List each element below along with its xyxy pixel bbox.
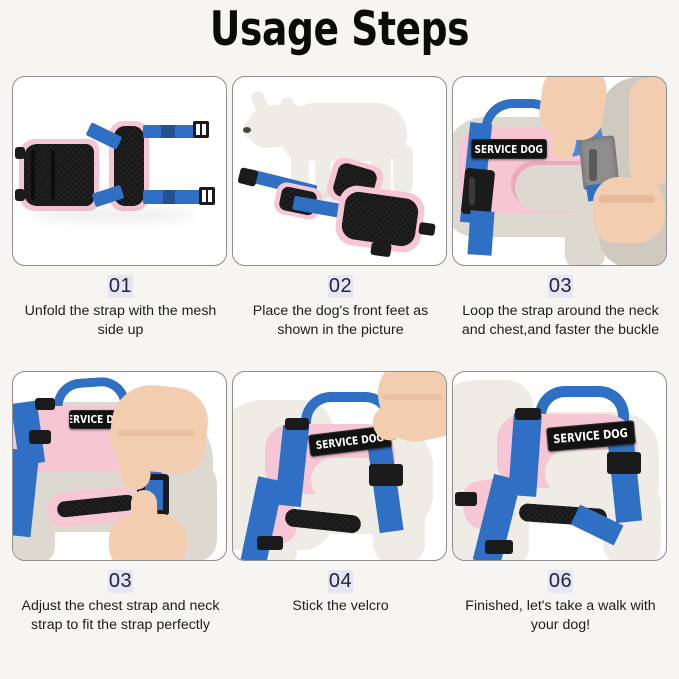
step-card-2: 02 Place the dog's front feet as shown i… — [232, 76, 449, 339]
scene-finished-harness: SERVICE DOG — [453, 372, 666, 560]
step-image-6: SERVICE DOG — [452, 371, 667, 561]
page-title: Usage Steps — [68, 4, 611, 57]
step-text-1: Unfold the strap with the mesh side up — [12, 302, 229, 339]
service-dog-patch-label-6: SERVICE DOG — [553, 426, 629, 446]
scene-stick-velcro: SERVICE DOG — [233, 372, 446, 560]
step-number-4: 03 — [108, 570, 133, 593]
step-number-2: 02 — [328, 275, 353, 298]
step-text-4: Adjust the chest strap and neck strap to… — [12, 597, 229, 634]
step-text-3: Loop the strap around the neck and chest… — [452, 302, 669, 339]
step-caption-4: 03 Adjust the chest strap and neck strap… — [12, 561, 229, 634]
step-image-2 — [232, 76, 447, 266]
step-image-4: SERVICE DOG — [12, 371, 227, 561]
service-dog-patch-label-3: SERVICE DOG — [475, 143, 543, 156]
step-card-6: SERVICE DOG 06 Finished, let's take a wa… — [452, 371, 669, 634]
scene-fastening-buckle: SERVICE DOG — [453, 77, 666, 265]
step-card-5: SERVICE DOG 04 Stick the velcro — [232, 371, 449, 634]
steps-row-bottom: SERVICE DOG 03 Adjust the che — [12, 371, 668, 634]
step-image-5: SERVICE DOG — [232, 371, 447, 561]
step-caption-2: 02 Place the dog's front feet as shown i… — [232, 266, 449, 339]
step-caption-6: 06 Finished, let's take a walk with your… — [452, 561, 669, 634]
step-image-1 — [12, 76, 227, 266]
step-number-1: 01 — [108, 275, 133, 298]
step-number-3: 03 — [548, 275, 573, 298]
service-dog-patch-3: SERVICE DOG — [471, 139, 547, 159]
usage-steps-infographic: Usage Steps — [0, 0, 679, 679]
scene-flat-harness — [13, 77, 226, 265]
step-number-5: 04 — [328, 570, 353, 593]
scene-dog-over-harness — [233, 77, 446, 265]
step-number-6: 06 — [548, 570, 573, 593]
steps-row-top: 01 Unfold the strap with the mesh side u… — [12, 76, 668, 339]
step-card-3: SERVICE DOG 03 Loop the strap — [452, 76, 669, 339]
step-card-4: SERVICE DOG 03 Adjust the che — [12, 371, 229, 634]
step-caption-1: 01 Unfold the strap with the mesh side u… — [12, 266, 229, 339]
service-dog-patch-label-5: SERVICE DOG — [315, 430, 385, 451]
step-caption-5: 04 Stick the velcro — [232, 561, 449, 616]
step-text-5: Stick the velcro — [232, 597, 449, 616]
step-image-3: SERVICE DOG — [452, 76, 667, 266]
step-card-1: 01 Unfold the strap with the mesh side u… — [12, 76, 229, 339]
step-text-6: Finished, let's take a walk with your do… — [452, 597, 669, 634]
step-text-2: Place the dog's front feet as shown in t… — [232, 302, 449, 339]
scene-adjust-chest-strap: SERVICE DOG — [13, 372, 226, 560]
step-caption-3: 03 Loop the strap around the neck and ch… — [452, 266, 669, 339]
